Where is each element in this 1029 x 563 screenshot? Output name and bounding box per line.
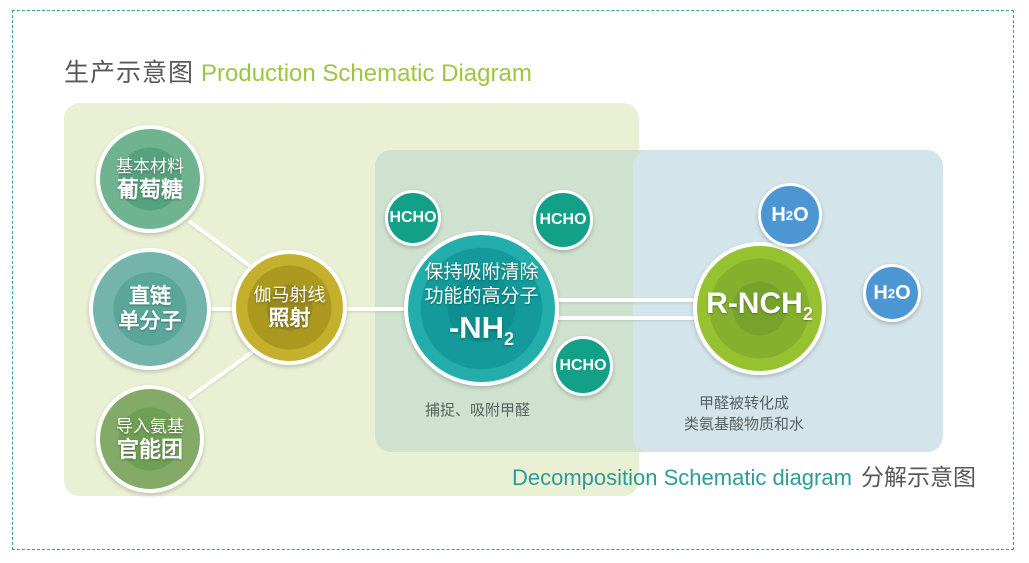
node-polymer-nh2-formula-main: -NH — [449, 310, 504, 345]
molecule-hcho-3: HCHO — [553, 336, 613, 396]
node-linear-molecule: 直链 单分子 — [89, 248, 211, 370]
molecule-hcho-2-label: HCHO — [539, 211, 586, 229]
wire-basic-to-gamma — [190, 222, 258, 272]
molecule-h2o-2-h: H — [873, 282, 887, 305]
node-gamma-ray-line1: 伽马射线 — [254, 284, 326, 306]
node-gamma-ray-line2: 照射 — [269, 306, 311, 331]
node-rnch2: R-NCH2 — [693, 242, 826, 375]
node-rnch2-formula: R-NCH2 — [706, 287, 813, 331]
diagram-canvas: 生产示意图Production Schematic Diagram Decomp… — [0, 0, 1029, 563]
molecule-hcho-1: HCHO — [385, 190, 441, 246]
node-amino-group: 导入氨基 官能团 — [96, 385, 204, 493]
production-title-cn: 生产示意图 — [64, 59, 194, 87]
molecule-hcho-2: HCHO — [533, 190, 593, 250]
molecule-h2o-2-o: O — [895, 282, 911, 305]
molecule-h2o-1-sub: 2 — [786, 208, 793, 223]
node-linear-molecule-line2: 单分子 — [119, 309, 182, 334]
node-polymer-nh2-line2: 功能的高分子 — [424, 285, 538, 309]
molecule-h2o-2-sub: 2 — [888, 286, 895, 301]
decomposition-title: Decomposition Schematic diagram分解示意图 — [512, 463, 976, 492]
caption-decomposition: 甲醛被转化成 类氨基酸物质和水 — [684, 393, 804, 435]
caption-decomposition-line2: 类氨基酸物质和水 — [684, 414, 804, 435]
molecule-hcho-1-label: HCHO — [389, 209, 436, 227]
node-gamma-ray: 伽马射线 照射 — [232, 250, 347, 365]
node-amino-group-line2: 官能团 — [117, 437, 183, 463]
production-title: 生产示意图Production Schematic Diagram — [64, 58, 532, 89]
node-polymer-nh2-formula: -NH2 — [449, 311, 514, 356]
molecule-h2o-2: H2O — [863, 264, 921, 322]
caption-capture-line1: 捕捉、吸附甲醛 — [425, 400, 530, 421]
node-linear-molecule-line1: 直链 — [129, 284, 171, 309]
production-title-en: Production Schematic Diagram — [201, 60, 532, 87]
molecule-hcho-3-label: HCHO — [559, 357, 606, 375]
node-polymer-nh2: 保持吸附清除 功能的高分子 -NH2 — [404, 231, 559, 386]
decomposition-title-en: Decomposition Schematic diagram — [512, 465, 852, 490]
node-basic-material-line2: 葡萄糖 — [117, 177, 183, 203]
decomposition-title-cn: 分解示意图 — [861, 464, 976, 490]
molecule-h2o-1-o: O — [793, 204, 809, 227]
caption-capture: 捕捉、吸附甲醛 — [425, 400, 530, 421]
node-rnch2-formula-main: R-NCH — [706, 287, 803, 320]
node-basic-material: 基本材料 葡萄糖 — [96, 125, 204, 233]
caption-decomposition-line1: 甲醛被转化成 — [684, 393, 804, 414]
node-amino-group-line1: 导入氨基 — [116, 416, 184, 437]
node-basic-material-line1: 基本材料 — [116, 156, 184, 177]
molecule-h2o-1: H2O — [758, 183, 822, 247]
node-polymer-nh2-line1: 保持吸附清除 — [424, 261, 538, 285]
wire-amino-to-gamma — [190, 348, 258, 397]
molecule-h2o-1-h: H — [771, 204, 785, 227]
node-rnch2-formula-sub: 2 — [803, 304, 813, 324]
node-polymer-nh2-formula-sub: 2 — [504, 329, 514, 349]
